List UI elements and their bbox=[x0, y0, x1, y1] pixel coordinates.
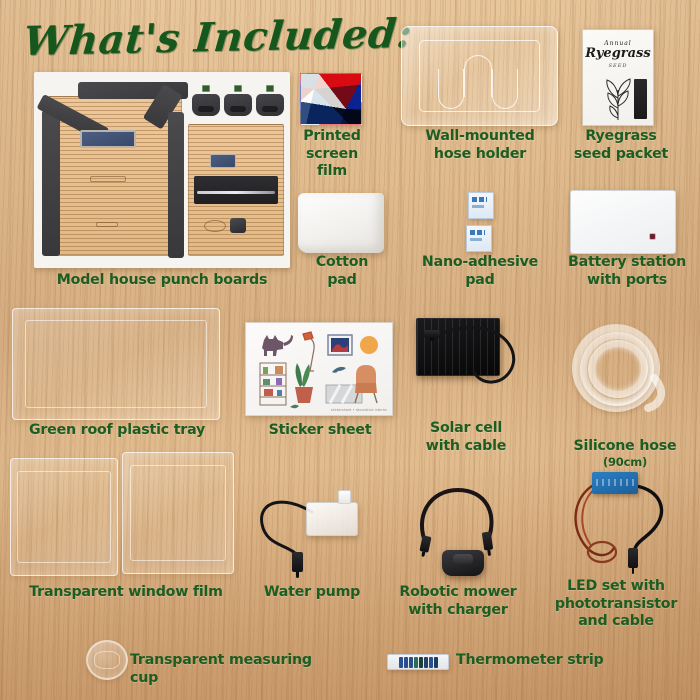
bookshelf-sticker bbox=[260, 363, 286, 405]
water-pump-plug bbox=[292, 552, 303, 572]
label-transparent-measuring-cup: Transparent measuring cup bbox=[130, 652, 330, 687]
item-solar-cell[interactable] bbox=[416, 318, 566, 418]
item-model-house-punch-boards[interactable] bbox=[34, 72, 290, 268]
bird-sticker bbox=[332, 367, 346, 373]
mower-body bbox=[442, 550, 484, 576]
seed-packet-text: Annual Ryegrass SEED bbox=[583, 40, 653, 69]
item-robotic-mower[interactable] bbox=[398, 468, 528, 576]
label-solar-cell: Solar cell with cable bbox=[404, 420, 528, 455]
label-printed-screen-film: Printed screen film bbox=[290, 128, 374, 181]
label-led-set: LED set with phototransistor and cable bbox=[540, 578, 692, 631]
sticker-illustrations bbox=[246, 323, 393, 416]
item-battery-station[interactable] bbox=[570, 190, 676, 254]
label-cotton-pad: Cotton pad bbox=[300, 254, 384, 289]
label-sticker-sheet: Sticker sheet bbox=[248, 422, 392, 440]
item-printed-screen-film[interactable] bbox=[300, 73, 362, 125]
sun-sticker bbox=[360, 336, 378, 354]
page-title: What's Included: bbox=[22, 10, 414, 65]
item-silicone-hose[interactable] bbox=[566, 320, 676, 420]
label-nano-adhesive-pad: Nano-adhesive pad bbox=[396, 254, 564, 289]
label-water-pump: Water pump bbox=[250, 584, 374, 602]
label-robotic-mower: Robotic mower with charger bbox=[388, 584, 528, 619]
label-ryegrass-seed-packet: Ryegrass seed packet bbox=[566, 128, 676, 163]
sticker-sheet-footer: stickersheet • decorative interior bbox=[331, 408, 387, 412]
item-water-pump[interactable] bbox=[252, 468, 368, 576]
label-wall-mounted-hose-holder: Wall-mounted hose holder bbox=[396, 128, 564, 163]
item-transparent-measuring-cup[interactable] bbox=[86, 640, 128, 680]
item-led-set[interactable] bbox=[544, 452, 688, 576]
framed-picture-sticker bbox=[328, 335, 352, 355]
led-wires bbox=[544, 452, 688, 576]
item-transparent-window-film[interactable] bbox=[10, 452, 236, 580]
battery-port-indicator bbox=[650, 234, 655, 239]
item-green-roof-plastic-tray[interactable] bbox=[12, 308, 220, 420]
label-transparent-window-film: Transparent window film bbox=[16, 584, 236, 602]
item-wall-mounted-hose-holder[interactable] bbox=[401, 26, 558, 126]
solar-cable-connector bbox=[424, 330, 440, 338]
item-thermometer-strip[interactable] bbox=[387, 654, 449, 670]
phototransistor-module bbox=[592, 472, 638, 494]
item-ryegrass-seed-packet[interactable]: Annual Ryegrass SEED bbox=[582, 29, 654, 126]
label-green-roof-plastic-tray: Green roof plastic tray bbox=[10, 422, 224, 440]
label-thermometer-strip: Thermometer strip bbox=[456, 652, 666, 670]
product-contents-infographic: What's Included: Model house punch board… bbox=[0, 0, 700, 700]
hose-tail bbox=[566, 320, 676, 420]
led-barrel-plug bbox=[628, 548, 638, 568]
item-nano-adhesive-pad[interactable] bbox=[466, 192, 506, 254]
seed-packet-side-tab bbox=[634, 79, 647, 119]
ryegrass-illustration bbox=[598, 74, 638, 120]
cat-sticker bbox=[262, 335, 293, 356]
item-cotton-pad[interactable] bbox=[298, 193, 384, 253]
label-battery-station: Battery station with ports bbox=[566, 254, 688, 289]
label-model-house-punch-boards: Model house punch boards bbox=[14, 272, 310, 290]
bird-sticker-2 bbox=[290, 405, 299, 409]
item-sticker-sheet[interactable]: stickersheet • decorative interior bbox=[245, 322, 393, 416]
